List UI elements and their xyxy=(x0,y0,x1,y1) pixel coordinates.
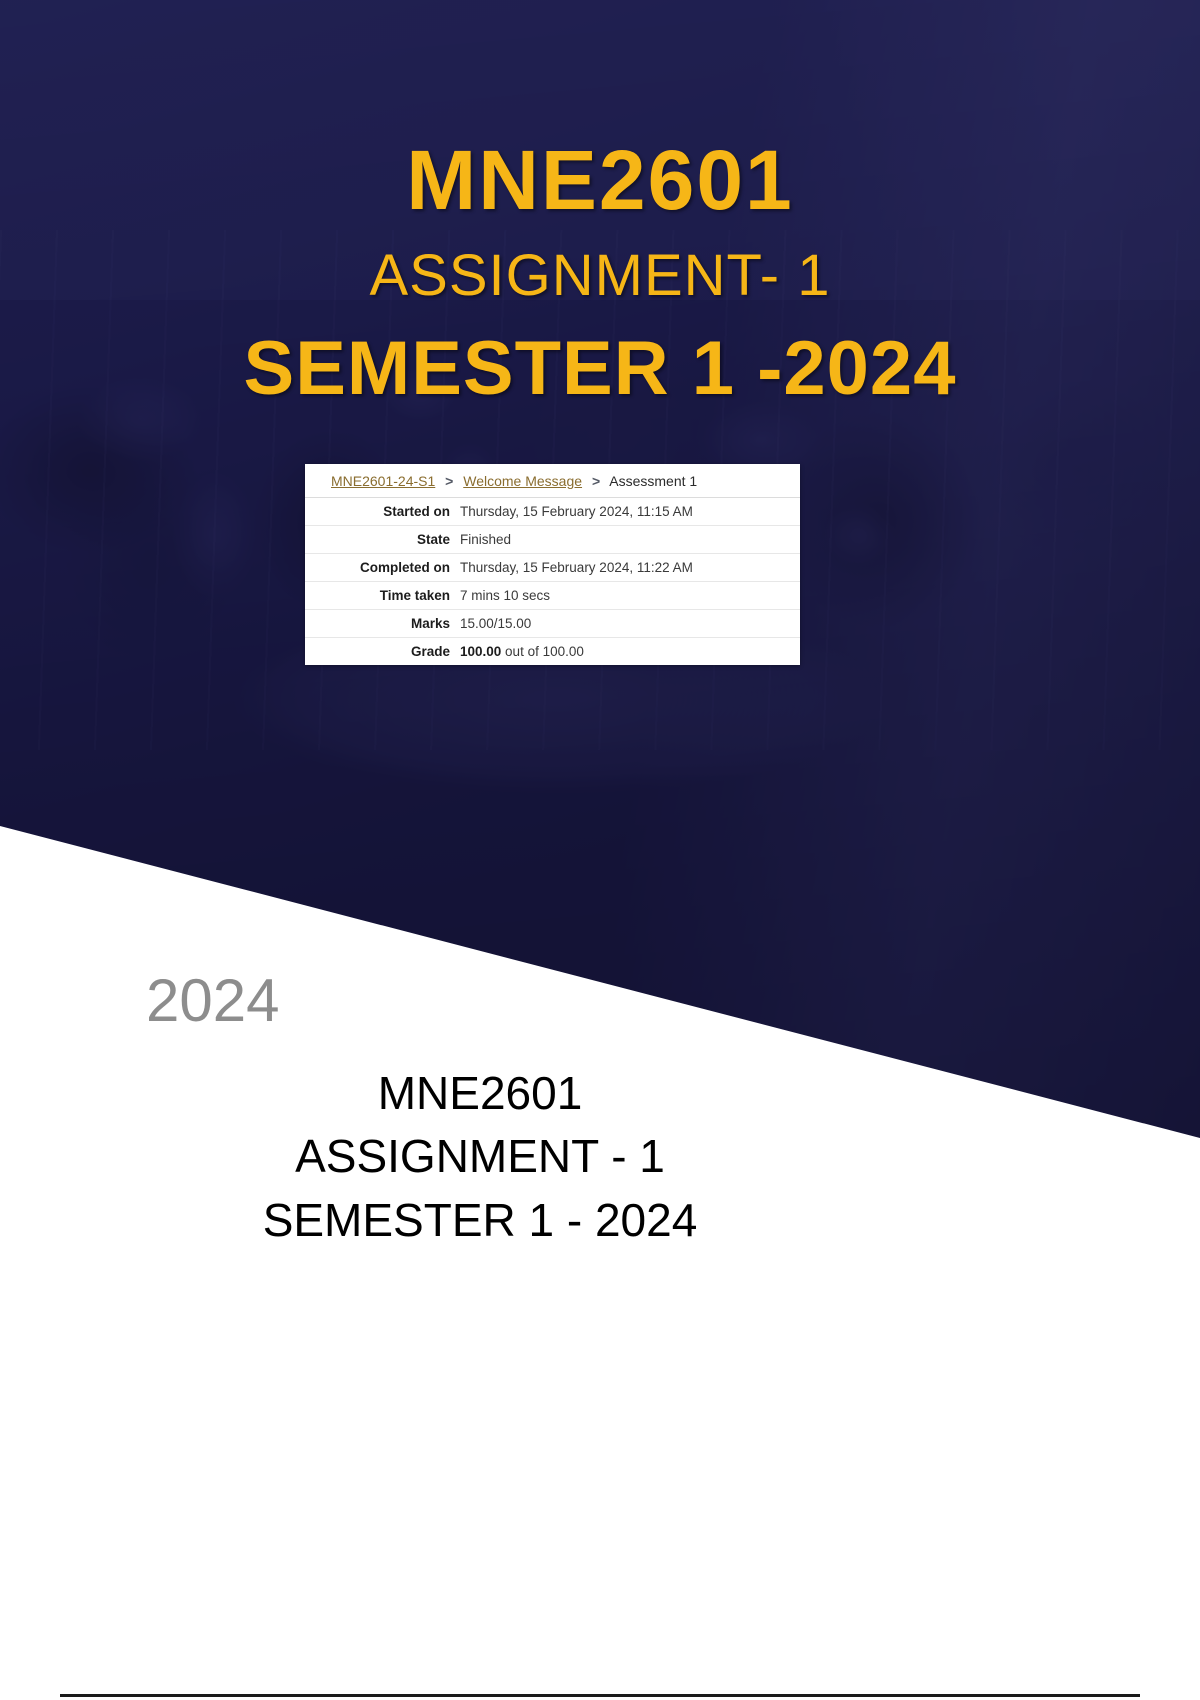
table-row: Completed on Thursday, 15 February 2024,… xyxy=(305,554,800,582)
hero-title-block: MNE2601 ASSIGNMENT- 1 SEMESTER 1 -2024 xyxy=(0,0,1200,407)
row-value: 7 mins 10 secs xyxy=(460,582,800,610)
page-title: MNE2601 xyxy=(0,0,1200,221)
row-value: Finished xyxy=(460,526,800,554)
grade-out-of: out of 100.00 xyxy=(501,644,584,659)
breadcrumb-separator-icon: > xyxy=(439,473,459,489)
breadcrumb-section-link[interactable]: Welcome Message xyxy=(463,473,582,489)
semester-subtitle: SEMESTER 1 -2024 xyxy=(0,305,1200,407)
table-row: Time taken 7 mins 10 secs xyxy=(305,582,800,610)
row-label: Marks xyxy=(305,610,460,638)
row-label: Started on xyxy=(305,498,460,526)
row-value-grade: 100.00 out of 100.00 xyxy=(460,638,800,666)
footer-divider xyxy=(60,1694,1140,1697)
row-value: Thursday, 15 February 2024, 11:15 AM xyxy=(460,498,800,526)
breadcrumb-course-link[interactable]: MNE2601-24-S1 xyxy=(331,473,435,489)
quiz-result-card: MNE2601-24-S1 > Welcome Message > Assess… xyxy=(305,464,800,665)
row-label-grade: Grade xyxy=(305,638,460,666)
row-label: Completed on xyxy=(305,554,460,582)
table-row: Started on Thursday, 15 February 2024, 1… xyxy=(305,498,800,526)
table-row: Marks 15.00/15.00 xyxy=(305,610,800,638)
year-label: 2024 xyxy=(146,966,279,1035)
document-title-line-3: SEMESTER 1 - 2024 xyxy=(0,1189,960,1252)
table-row-grade: Grade 100.00 out of 100.00 xyxy=(305,638,800,666)
document-title-block: MNE2601 ASSIGNMENT - 1 SEMESTER 1 - 2024 xyxy=(0,1062,960,1252)
grade-score: 100.00 xyxy=(460,644,501,659)
assignment-subtitle: ASSIGNMENT- 1 xyxy=(0,221,1200,305)
document-title-line-2: ASSIGNMENT - 1 xyxy=(0,1125,960,1188)
attempt-summary-table: Started on Thursday, 15 February 2024, 1… xyxy=(305,497,800,665)
table-row: State Finished xyxy=(305,526,800,554)
breadcrumb: MNE2601-24-S1 > Welcome Message > Assess… xyxy=(305,464,800,497)
document-title-line-1: MNE2601 xyxy=(0,1062,960,1125)
breadcrumb-separator-icon-2: > xyxy=(586,473,606,489)
row-value: 15.00/15.00 xyxy=(460,610,800,638)
row-label: Time taken xyxy=(305,582,460,610)
breadcrumb-current-page: Assessment 1 xyxy=(609,473,697,489)
row-value: Thursday, 15 February 2024, 11:22 AM xyxy=(460,554,800,582)
row-label: State xyxy=(305,526,460,554)
